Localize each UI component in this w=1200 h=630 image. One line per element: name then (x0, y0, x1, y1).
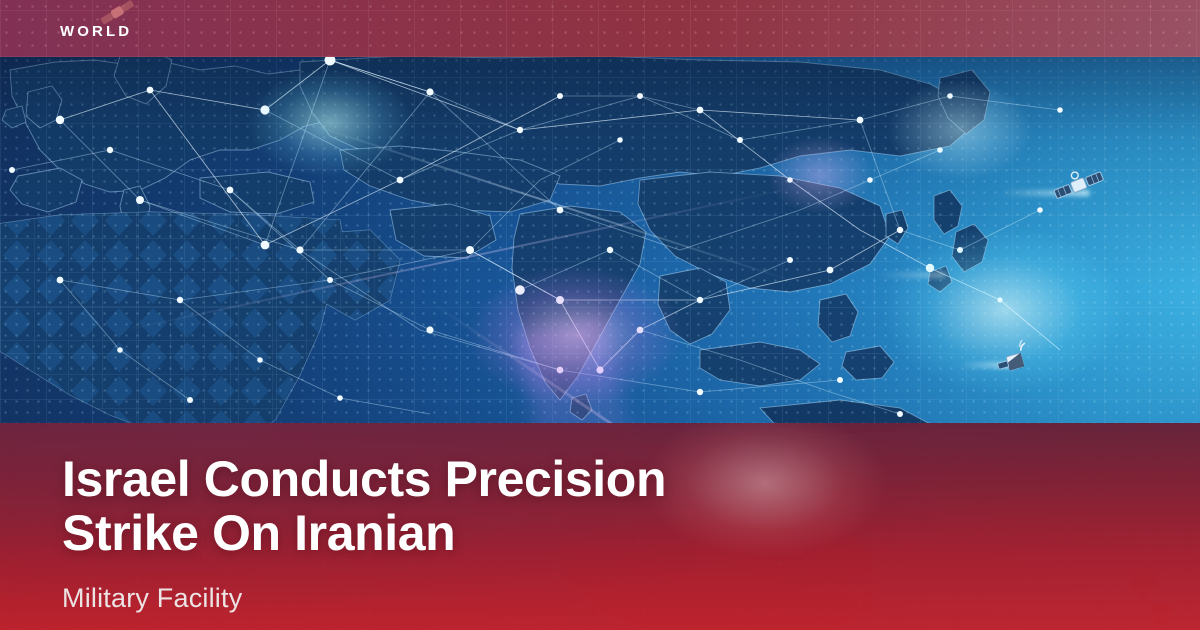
subheadline: Military Facility (62, 582, 242, 614)
category-label[interactable]: WORLD (60, 23, 132, 40)
headline: Israel Conducts Precision Strike On Iran… (62, 452, 862, 560)
satellite-dish-icon (995, 340, 1039, 378)
news-hero-card: WORLD (0, 0, 1200, 630)
header-dot-overlay (0, 0, 1200, 57)
headline-line-1: Israel Conducts Precision (62, 452, 862, 506)
satellite-icon (1052, 166, 1104, 206)
headline-line-2: Strike On Iranian (62, 506, 862, 560)
category-header-bar: WORLD (0, 0, 1200, 57)
satellite-trail (876, 272, 946, 278)
